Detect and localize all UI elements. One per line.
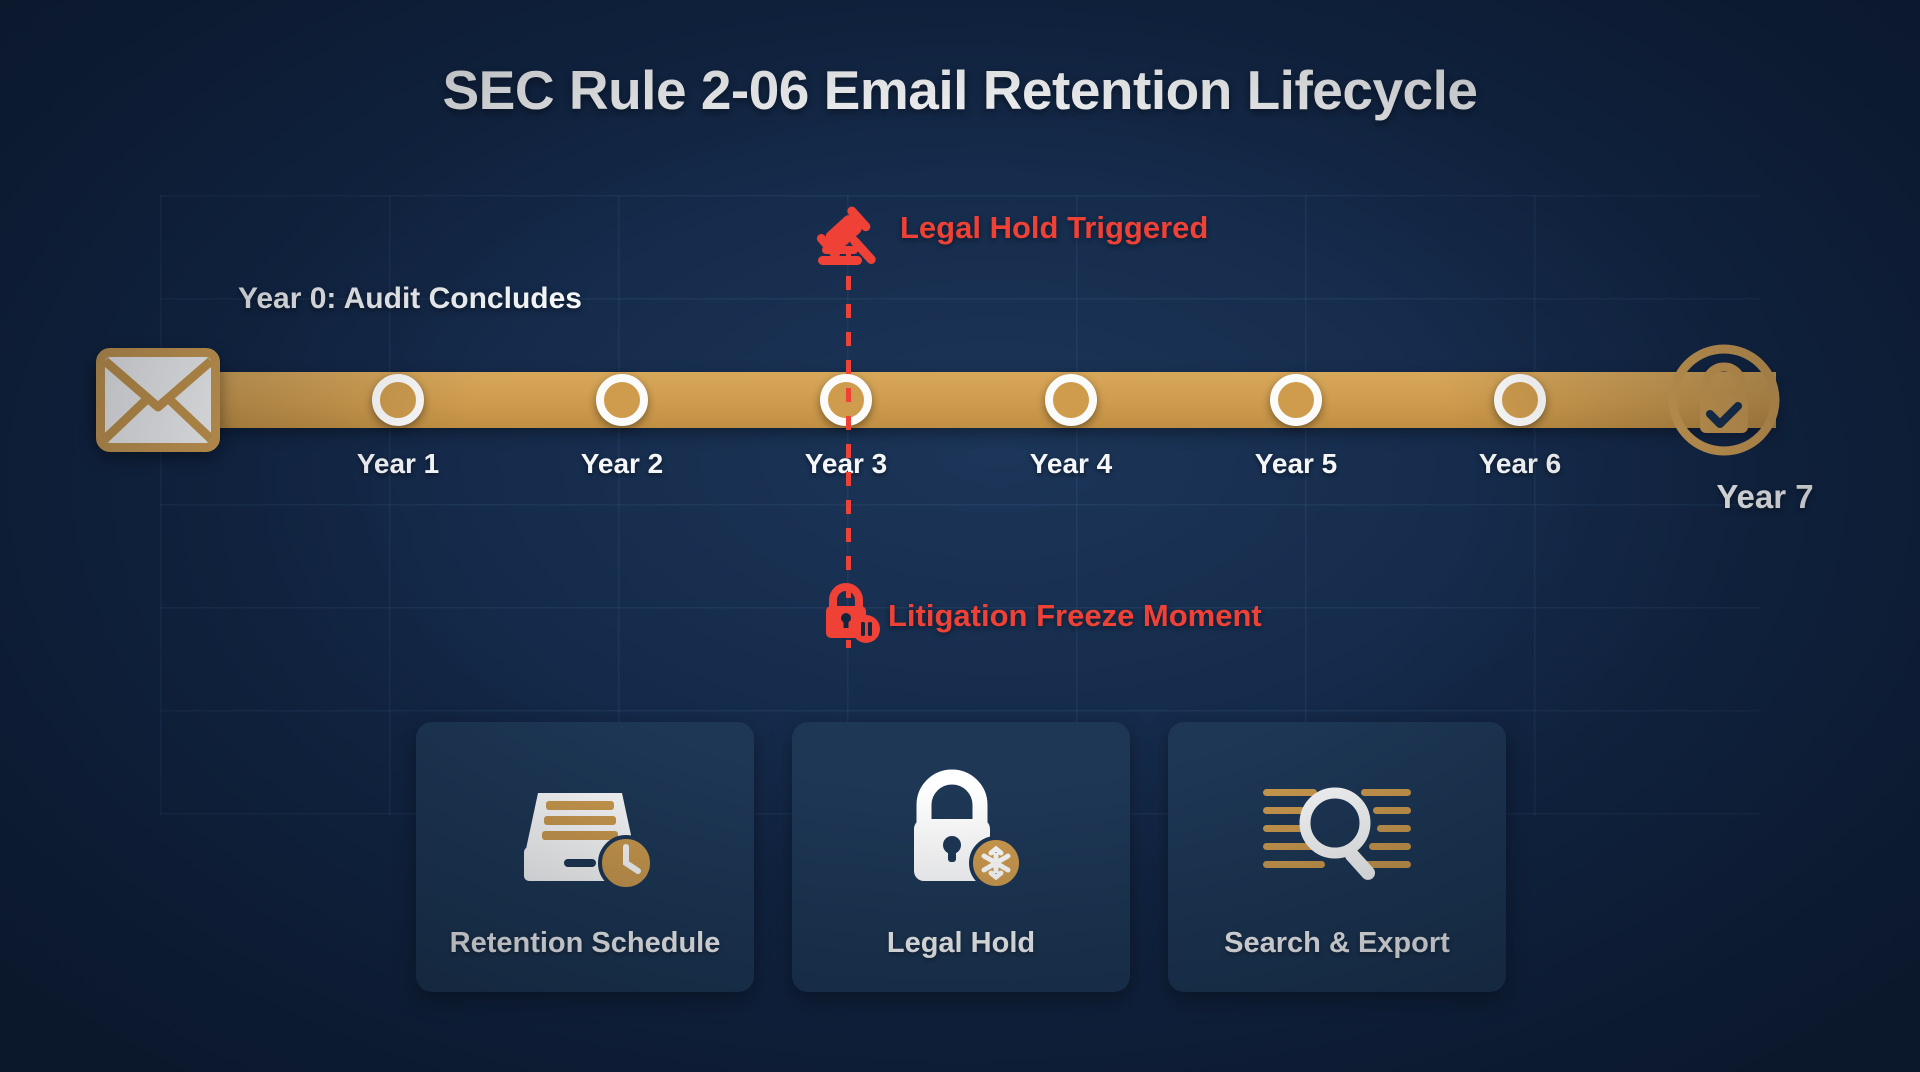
card-label-legal-hold: Legal Hold (887, 927, 1035, 960)
lock-check-icon[interactable] (1664, 340, 1784, 460)
lock-snowflake-icon (886, 765, 1036, 897)
search-document-icon (1257, 765, 1417, 897)
timeline-label-year-6: Year 6 (1479, 448, 1562, 480)
card-retention-schedule[interactable]: Retention Schedule (416, 722, 754, 992)
timeline-node-year-1[interactable] (372, 374, 424, 426)
timeline-node-year-5[interactable] (1270, 374, 1322, 426)
timeline-label-year-5: Year 5 (1255, 448, 1338, 480)
timeline-node-year-6[interactable] (1494, 374, 1546, 426)
timeline-node-year-2[interactable] (596, 374, 648, 426)
litigation-freeze-annotation-label: Litigation Freeze Moment (888, 598, 1262, 634)
timeline-label-year-7: Year 7 (1716, 478, 1813, 516)
card-search-export[interactable]: Search & Export (1168, 722, 1506, 992)
timeline-label-year-2: Year 2 (581, 448, 664, 480)
card-legal-hold[interactable]: Legal Hold (792, 722, 1130, 992)
legal-hold-annotation-label: Legal Hold Triggered (900, 210, 1208, 246)
feature-cards: Retention Schedule Legal Hold (416, 722, 1506, 992)
page-title: SEC Rule 2-06 Email Retention Lifecycle (0, 58, 1920, 122)
envelope-icon (96, 348, 220, 452)
archive-clock-icon (510, 765, 660, 897)
card-label-search-export: Search & Export (1224, 927, 1450, 960)
timeline-label-year-1: Year 1 (357, 448, 440, 480)
timeline-label-year-4: Year 4 (1030, 448, 1113, 480)
gavel-icon (812, 196, 884, 268)
infographic-canvas: SEC Rule 2-06 Email Retention Lifecycle … (0, 0, 1920, 1072)
lock-pause-icon (818, 580, 884, 646)
timeline-node-year-4[interactable] (1045, 374, 1097, 426)
card-label-retention-schedule: Retention Schedule (450, 927, 721, 960)
timeline-start-label: Year 0: Audit Concludes (238, 282, 582, 316)
